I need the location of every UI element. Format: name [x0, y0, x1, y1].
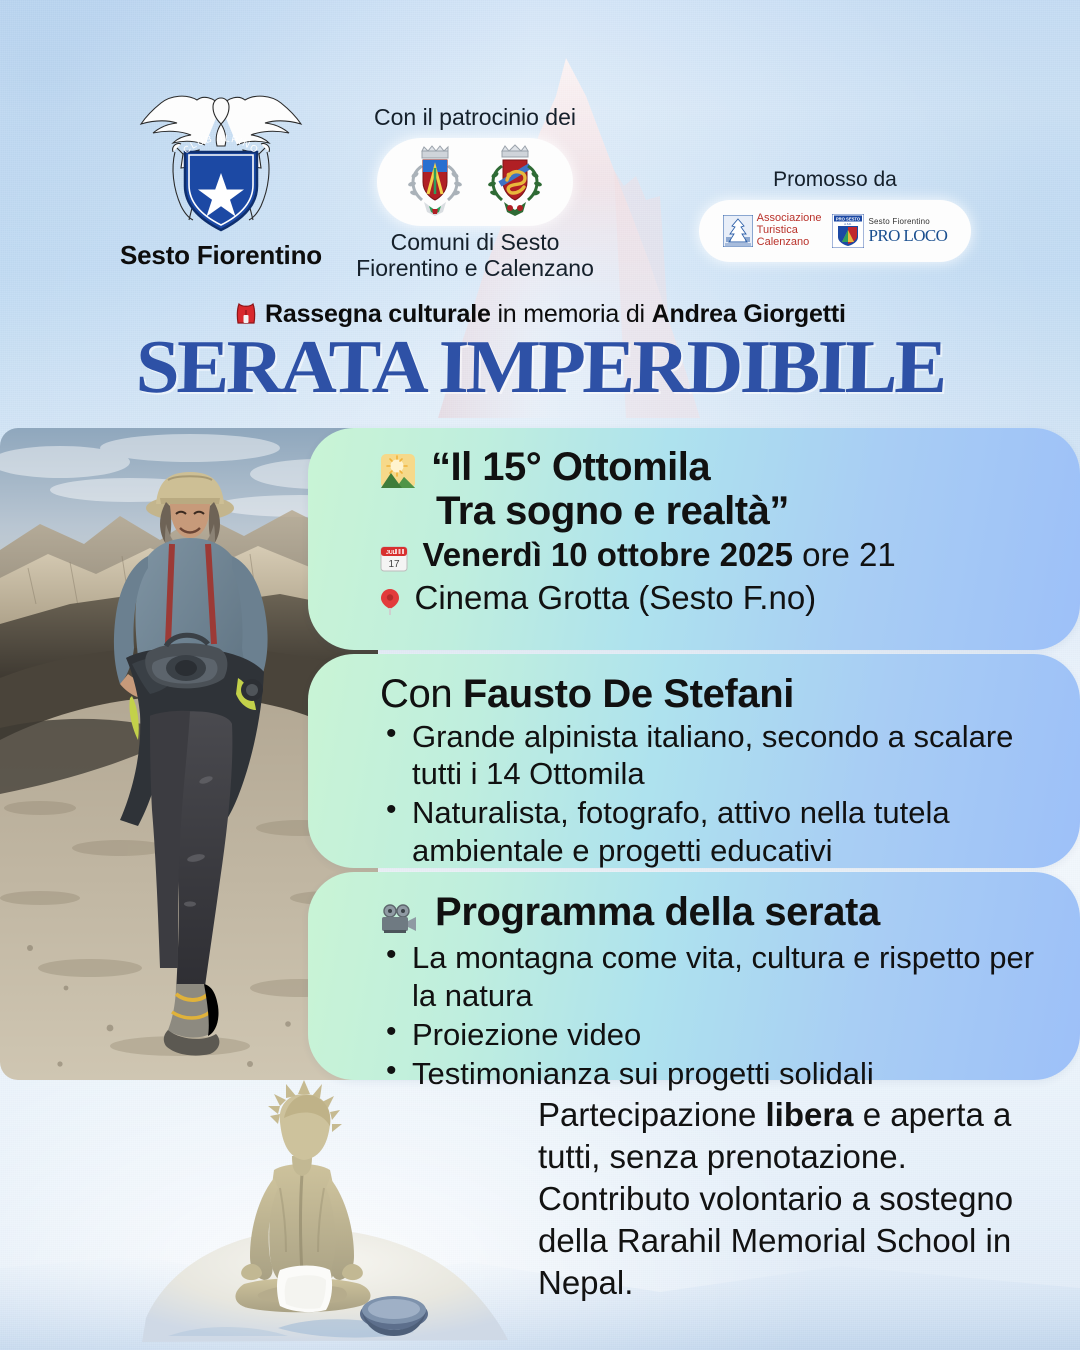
program-bullet-list: La montagna come vita, cultura e rispett…	[380, 939, 1050, 1092]
atc-line3: Calenzano	[757, 237, 822, 249]
rassegna-bold2: Andrea Giorgetti	[652, 300, 846, 328]
comune-calenzano-crest	[478, 144, 552, 220]
tent-icon	[234, 300, 265, 328]
location-pin-icon	[380, 586, 408, 616]
page-title: SERATA IMPERDIBILE	[0, 333, 1080, 403]
cai-logo-block: CLUB ALPINO ITALIANO Sesto Fiorentino	[108, 88, 334, 271]
program-heading: Programma della serata	[380, 890, 1050, 937]
promosso-title: Promosso da	[690, 168, 980, 192]
pro-loco-main: PRO LOCO	[869, 226, 948, 246]
event-date-row: JUL 17 Venerdì 10 ottobre 2025 ore 21	[380, 536, 1050, 574]
pro-loco-logo: PRO SESTO A.S.D. Sesto Fiorentino PRO LO…	[832, 214, 948, 248]
patrocinio-title: Con il patrocinio dei	[330, 104, 620, 131]
patrocinio-caption: Comuni di Sesto Fiorentino e Calenzano	[330, 230, 620, 282]
patrocinio-block: Con il patrocinio dei	[330, 104, 620, 282]
rassegna-mid: in memoria di	[491, 300, 652, 328]
list-item: Naturalista, fotografo, attivo nella tut…	[380, 794, 1050, 868]
footer-note-part1: Partecipazione	[538, 1096, 765, 1133]
event-card: “Il 15° Ottomila Tra sogno e realtà” JUL…	[308, 428, 1080, 650]
pro-loco-wordmark: Sesto Fiorentino PRO LOCO	[869, 217, 948, 246]
event-venue-row: Cinema Grotta (Sesto F.no)	[380, 579, 1050, 617]
event-venue: Cinema Grotta (Sesto F.no)	[415, 579, 817, 616]
pro-sesto-badge-label: PRO SESTO	[835, 216, 860, 221]
speaker-bullet-list: Grande alpinista italiano, secondo a sca…	[380, 718, 1050, 869]
list-item: La montagna come vita, cultura e rispett…	[380, 939, 1050, 1013]
associazione-turistica-logo: Associazione Turistica Calenzano	[723, 213, 822, 249]
footer-note: Partecipazione libera e aperta a tutti, …	[538, 1094, 1038, 1304]
event-title-line1: “Il 15° Ottomila	[431, 445, 710, 489]
svg-text:17: 17	[388, 559, 400, 570]
event-title: “Il 15° Ottomila Tra sogno e realtà”	[380, 446, 1050, 532]
movie-camera-icon	[380, 899, 427, 937]
promoters-logos-pill: Associazione Turistica Calenzano PRO SES…	[699, 200, 971, 262]
speaker-card: Con Fausto De Stefani Grande alpinista i…	[308, 654, 1080, 868]
promosso-block: Promosso da Associazione Turistica Calen…	[690, 168, 980, 262]
pro-loco-shield-mark: PRO SESTO A.S.D.	[832, 214, 864, 248]
associazione-turistica-text: Associazione Turistica Calenzano	[757, 213, 822, 249]
comuni-crests-pill	[377, 138, 573, 226]
cai-caption: Sesto Fiorentino	[108, 240, 334, 271]
associazione-turistica-calenzano-mark	[723, 215, 753, 247]
list-item: Grande alpinista italiano, secondo a sca…	[380, 718, 1050, 792]
rassegna-bold1: Rassegna culturale	[265, 300, 491, 328]
cai-eagle-shield-logo: CLUB ALPINO ITALIANO	[137, 88, 305, 238]
pro-loco-sub: Sesto Fiorentino	[869, 217, 948, 226]
headline-block: Rassegna culturale in memoria di Andrea …	[0, 300, 1080, 403]
list-item: Proiezione video	[380, 1016, 1050, 1053]
patrocinio-caption-line1: Comuni di Sesto	[330, 230, 620, 256]
program-heading-text: Programma della serata	[435, 890, 880, 934]
meditating-figure-illustration	[128, 1078, 548, 1350]
footer-note-bold: libera	[765, 1096, 853, 1133]
event-date: Venerdì 10 ottobre 2025	[423, 536, 794, 573]
poster-root: CLUB ALPINO ITALIANO Sesto Fiorentino Co…	[0, 0, 1080, 1350]
poster-header: CLUB ALPINO ITALIANO Sesto Fiorentino Co…	[0, 0, 1080, 300]
event-title-line2: Tra sogno e realtà”	[380, 490, 1050, 532]
speaker-heading: Con Fausto De Stefani	[380, 672, 1050, 716]
comune-sesto-fiorentino-crest	[398, 144, 472, 220]
event-time: ore 21	[793, 536, 896, 573]
calendar-icon: JUL 17	[380, 543, 416, 573]
mountain-sun-icon	[380, 453, 425, 491]
program-card: Programma della serata La montagna come …	[308, 872, 1080, 1080]
patrocinio-caption-line2: Fiorentino e Calenzano	[330, 256, 620, 282]
speaker-name: Fausto De Stefani	[463, 672, 794, 716]
content-cards: “Il 15° Ottomila Tra sogno e realtà” JUL…	[308, 428, 1080, 1080]
speaker-prefix: Con	[380, 672, 463, 716]
pro-sesto-badge-sub: A.S.D.	[844, 222, 852, 226]
